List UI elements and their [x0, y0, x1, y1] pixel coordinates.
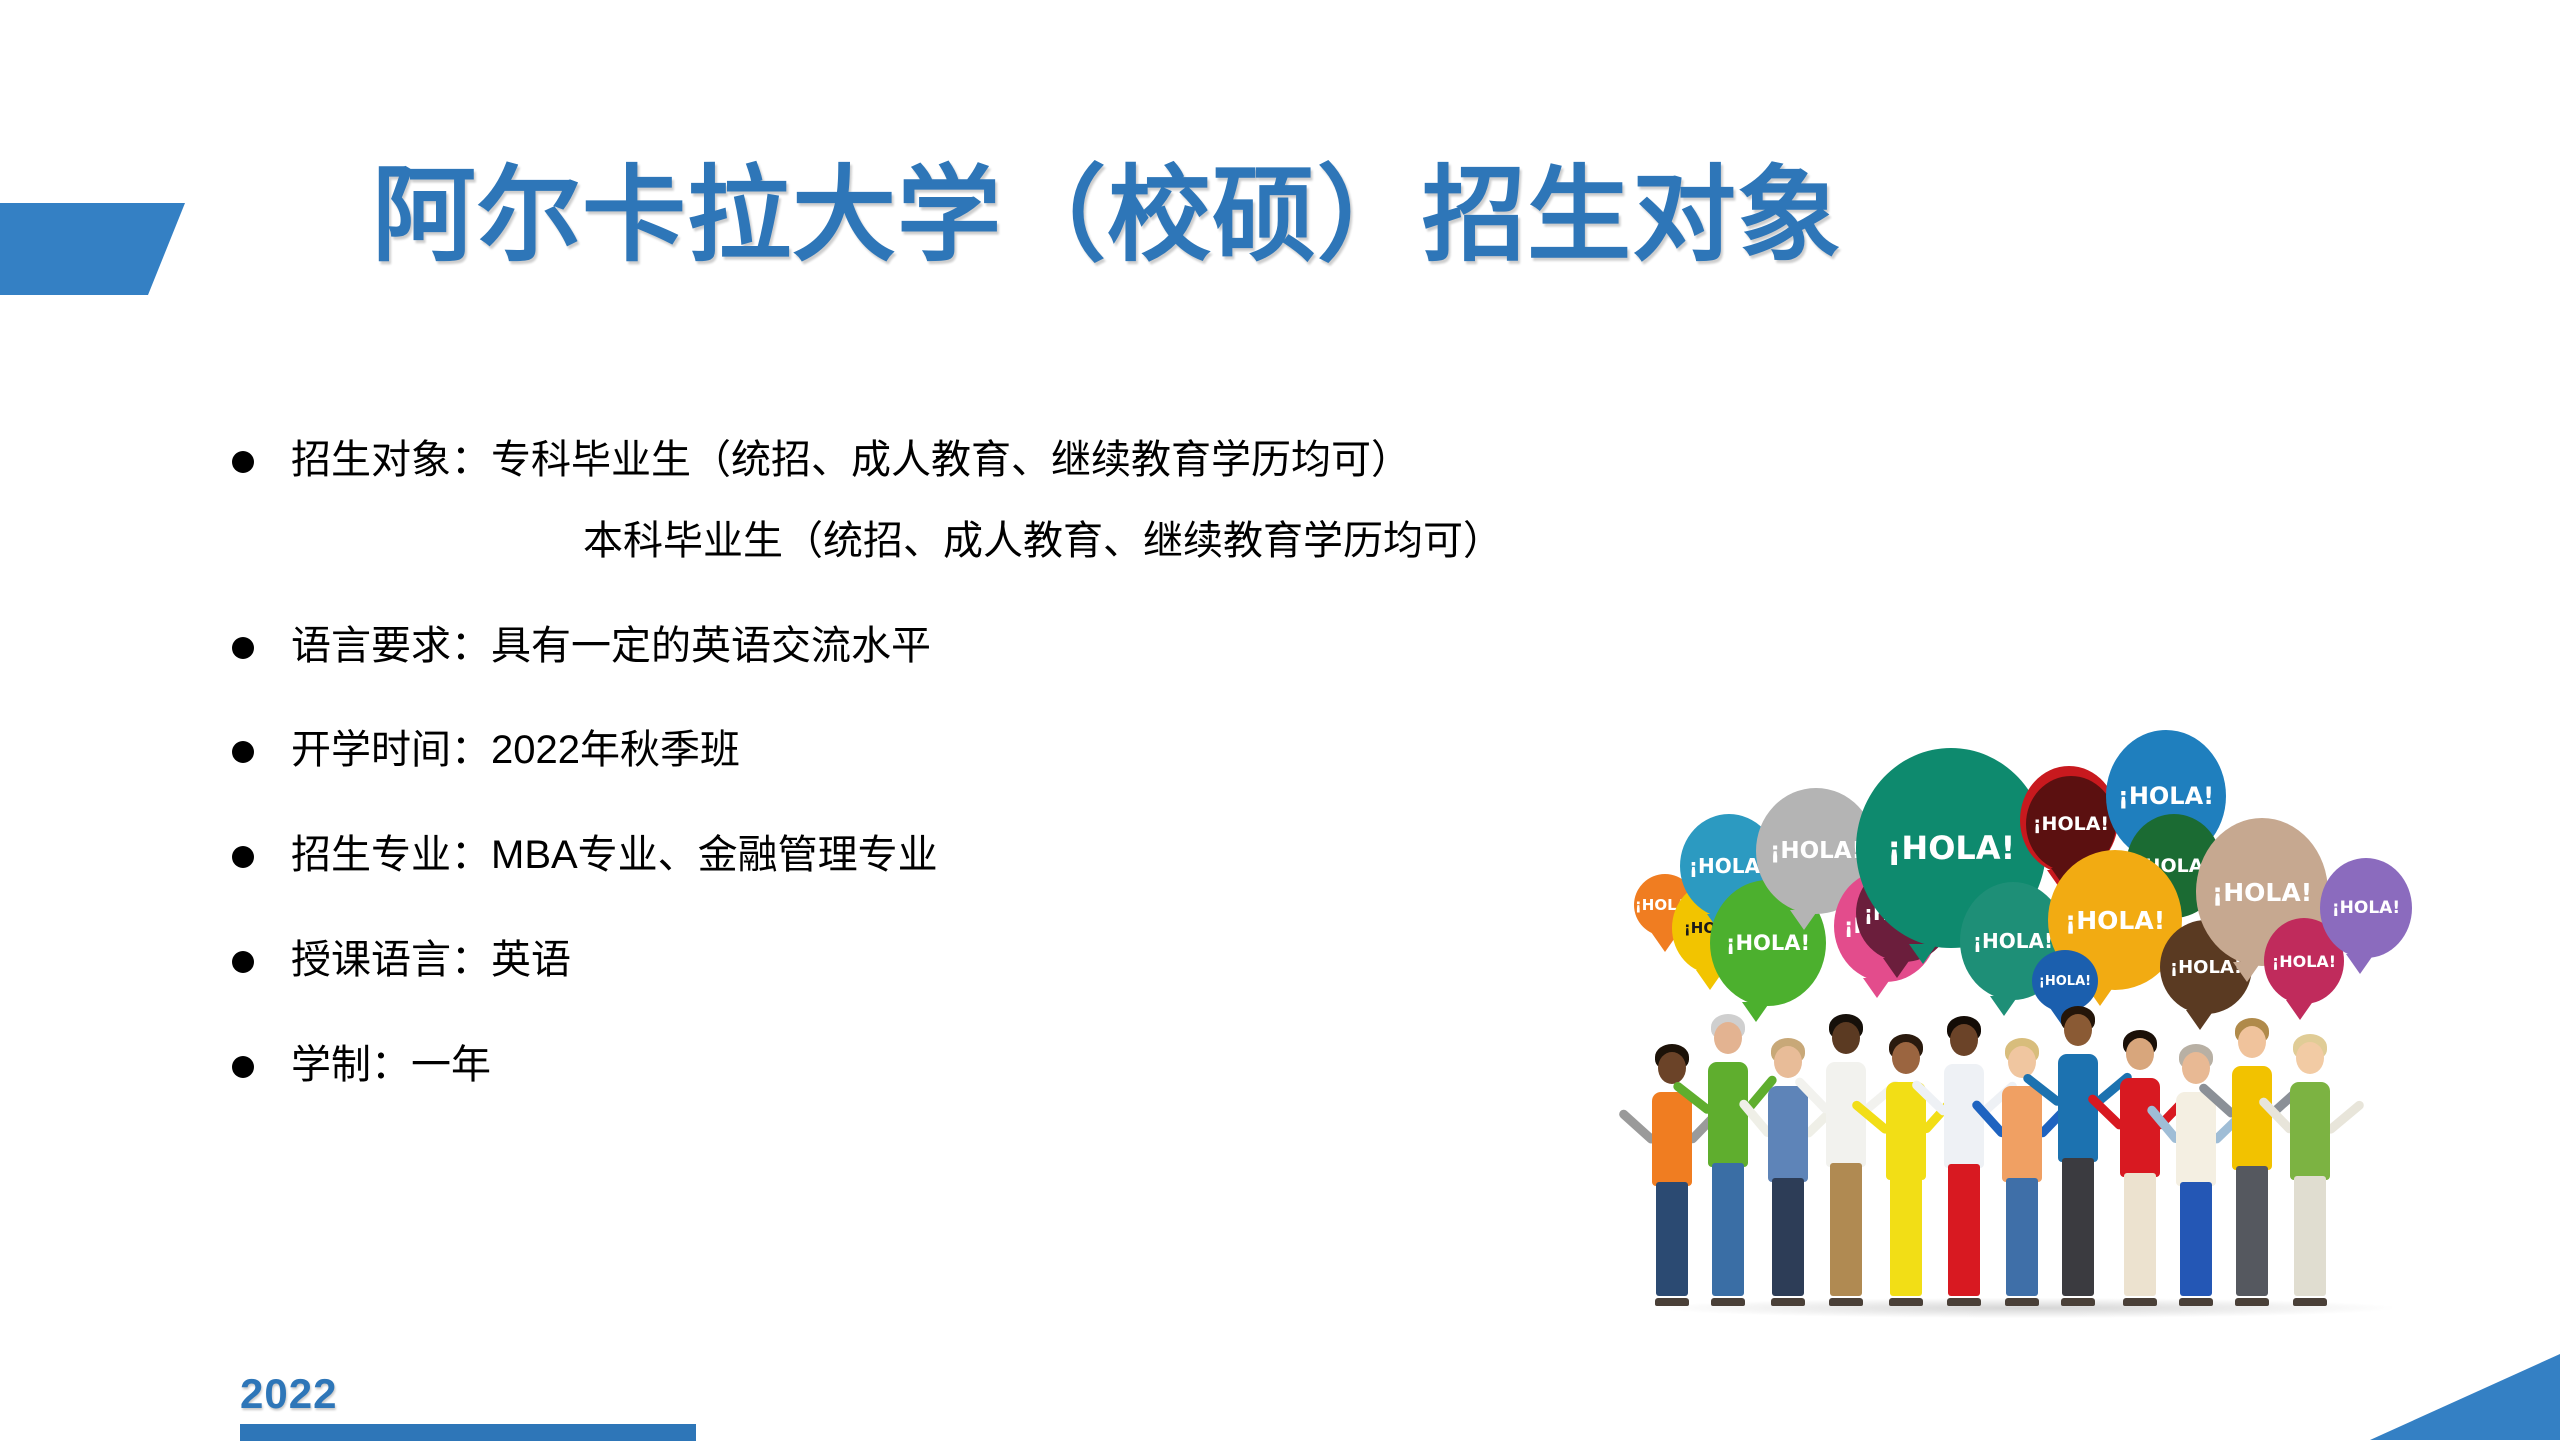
list-item-label: 语言要求：具有一定的英语交流水平: [291, 618, 931, 675]
list-item-label: 授课语言：英语: [291, 932, 571, 989]
person-figure: [1644, 1044, 1700, 1306]
speech-bubble-tail-icon: [1790, 910, 1818, 930]
bullet-dot-icon: [232, 741, 254, 763]
person-shoes: [2293, 1298, 2327, 1306]
person-figure: [1760, 1038, 1816, 1306]
person-figure: [2168, 1044, 2224, 1306]
speech-bubble-tail-icon: [2346, 954, 2374, 974]
person-head: [2008, 1046, 2036, 1078]
speech-bubble-label: ¡HOLA!: [2033, 813, 2109, 835]
list-item-label: 学制：一年: [291, 1037, 491, 1094]
person-legs: [2294, 1176, 2326, 1296]
speech-bubble-tail-icon: [1883, 958, 1911, 978]
bullet-dot-icon: [232, 451, 254, 473]
person-shoes: [1947, 1298, 1981, 1306]
person-arm-right: [2325, 1099, 2366, 1135]
person-figure: [1700, 1014, 1756, 1306]
speech-bubble-group: ¡HOLA!¡HOLA!¡HOLA!¡HOLA!¡HOLA!¡HOLA!¡HOL…: [1628, 722, 2428, 1022]
person-head: [1714, 1022, 1742, 1054]
person-torso: [2232, 1066, 2272, 1170]
person-torso: [1944, 1064, 1984, 1168]
speech-bubble: ¡HOLA!: [2032, 950, 2098, 1012]
person-legs: [2236, 1166, 2268, 1296]
bullet-dot-icon: [232, 1056, 254, 1078]
speech-bubble-label: ¡HOLA!: [1887, 829, 2015, 867]
person-shoes: [2179, 1298, 2213, 1306]
page-title: 阿尔卡拉大学（校硕）招生对象: [372, 158, 1842, 274]
person-legs: [2006, 1178, 2038, 1296]
list-item: 授课语言：英语: [232, 932, 1792, 989]
person-legs: [2124, 1173, 2156, 1296]
person-shoes: [1655, 1298, 1689, 1306]
person-figure: [2282, 1034, 2338, 1306]
person-head: [2238, 1026, 2266, 1058]
diverse-people-photo: [1638, 994, 2418, 1340]
list-item: 学制：一年: [232, 1037, 1792, 1094]
person-legs: [1772, 1178, 1804, 1296]
person-torso: [2176, 1092, 2216, 1186]
person-torso: [2120, 1078, 2160, 1177]
speech-bubble-label: ¡HOLA!: [2118, 782, 2214, 810]
speech-bubble-tail-icon: [1863, 978, 1891, 998]
list-item-label: 招生对象：专科毕业生（统招、成人教育、继续教育学历均可）: [291, 432, 1411, 489]
person-shoes: [2123, 1298, 2157, 1306]
bullet-dot-icon: [232, 637, 254, 659]
person-shoes: [1711, 1298, 1745, 1306]
speech-bubble-label: ¡HOLA!: [2039, 974, 2091, 989]
person-head: [1892, 1042, 1920, 1074]
speech-bubble-label: ¡HOLA!: [2332, 898, 2400, 918]
list-item: 开学时间：2022年秋季班: [232, 722, 1792, 779]
person-figure: [1818, 1014, 1874, 1306]
footer-accent-bar: [240, 1424, 696, 1441]
hola-illustration: ¡HOLA!¡HOLA!¡HOLA!¡HOLA!¡HOLA!¡HOLA!¡HOL…: [1628, 722, 2428, 1340]
speech-bubble-label: ¡HOLA!: [2065, 906, 2165, 935]
person-torso: [1708, 1062, 1748, 1167]
list-item: 语言要求：具有一定的英语交流水平: [232, 618, 1792, 675]
bullet-dot-icon: [232, 951, 254, 973]
person-head: [1832, 1022, 1860, 1054]
person-shoes: [2005, 1298, 2039, 1306]
person-figure: [2112, 1030, 2168, 1306]
person-legs: [1948, 1164, 1980, 1296]
person-legs: [2180, 1182, 2212, 1296]
person-legs: [2062, 1158, 2094, 1296]
speech-bubble-tail-icon: [2186, 1010, 2214, 1030]
bullet-list: 招生对象：专科毕业生（统招、成人教育、继续教育学历均可） 本科毕业生（统招、成人…: [232, 432, 1792, 1142]
person-head: [2126, 1038, 2154, 1070]
speech-bubble-label: ¡HOLA!: [1726, 931, 1810, 955]
person-figure: [2050, 1006, 2106, 1306]
person-head: [2064, 1014, 2092, 1046]
speech-bubble: ¡HOLA!: [2320, 858, 2412, 958]
person-legs: [1830, 1163, 1862, 1296]
person-head: [1658, 1052, 1686, 1084]
footer-year: 2022: [240, 1370, 337, 1418]
person-legs: [1890, 1176, 1922, 1296]
person-head: [2182, 1052, 2210, 1084]
person-figure: [1878, 1034, 1934, 1306]
person-shoes: [1889, 1298, 1923, 1306]
person-torso: [1768, 1086, 1808, 1182]
bullet-dot-icon: [232, 846, 254, 868]
speech-bubble-tail-icon: [1990, 996, 2018, 1016]
speech-bubble-tail-icon: [1909, 944, 1937, 964]
person-shoes: [2061, 1298, 2095, 1306]
list-item-label: 开学时间：2022年秋季班: [291, 722, 740, 779]
person-torso: [2002, 1086, 2042, 1182]
speech-bubble-label: ¡HOLA!: [1973, 929, 2053, 953]
bottom-right-triangle-decoration: [2370, 1354, 2560, 1440]
person-legs: [1656, 1182, 1688, 1296]
person-torso: [2058, 1054, 2098, 1162]
speech-bubble-tail-icon: [2286, 1000, 2314, 1020]
person-head: [2296, 1042, 2324, 1074]
list-item: 招生对象：专科毕业生（统招、成人教育、继续教育学历均可）: [232, 432, 1792, 489]
list-item: 招生专业：MBA专业、金融管理专业: [232, 827, 1792, 884]
list-item-label: 招生专业：MBA专业、金融管理专业: [291, 827, 938, 884]
list-item-continuation: 本科毕业生（统招、成人教育、继续教育学历均可）: [583, 513, 1792, 570]
person-torso: [2290, 1082, 2330, 1180]
person-torso: [1652, 1092, 1692, 1186]
person-torso: [1886, 1082, 1926, 1180]
person-figure: [2224, 1018, 2280, 1306]
speech-bubble-label: ¡HOLA!: [2212, 878, 2312, 907]
person-shoes: [2235, 1298, 2269, 1306]
speech-bubble-tail-icon: [2233, 962, 2261, 982]
person-figure: [1936, 1016, 1992, 1306]
person-shoes: [1829, 1298, 1863, 1306]
person-legs: [1712, 1163, 1744, 1296]
speech-bubble-label: ¡HOLA!: [2170, 957, 2242, 978]
person-shoes: [1771, 1298, 1805, 1306]
person-head: [1950, 1024, 1978, 1056]
speech-bubble-label: ¡HOLA!: [2272, 952, 2336, 971]
speech-bubble-label: ¡HOLA!: [1770, 838, 1862, 864]
top-left-parallelogram-decoration: [0, 203, 185, 295]
person-head: [1774, 1046, 1802, 1078]
